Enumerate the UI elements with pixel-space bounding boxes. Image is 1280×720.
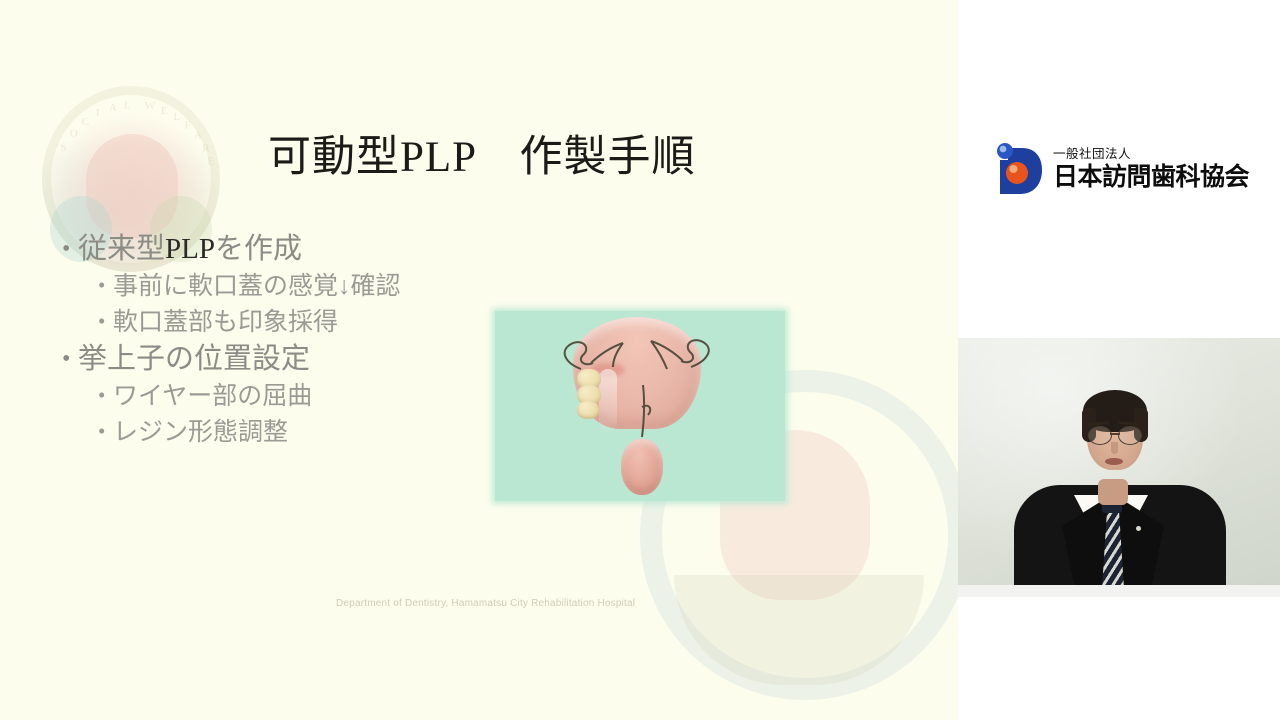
prosthesis-photo-content <box>495 311 785 501</box>
lapel-badge <box>1136 526 1141 531</box>
logo-name: 日本訪問歯科協会 <box>1053 165 1249 190</box>
presenter-neck <box>1098 479 1128 505</box>
bullet-item-1: •従来型PLPを作成 <box>62 230 492 268</box>
prosthesis-photo <box>495 311 785 501</box>
bullet-item-1-latin: PLP <box>165 233 215 265</box>
logo-panel: 一般社団法人 日本訪問歯科協会 <box>958 0 1280 338</box>
right-column: 一般社団法人 日本訪問歯科協会 <box>958 0 1280 720</box>
organization-logo: 一般社団法人 日本訪問歯科協会 <box>992 140 1249 198</box>
bullet-list: •従来型PLPを作成 •事前に軟口蓋の感覚↓確認 •軟口蓋部も印象採得 •挙上子… <box>62 230 492 450</box>
association-mark-icon <box>992 140 1044 198</box>
presenter-desk <box>958 585 1280 597</box>
lift-bulb <box>621 439 663 495</box>
bullet-item-4-text-a: 挙上子の位置設定 <box>78 343 310 375</box>
bullet-marker: • <box>98 378 113 412</box>
bullet-item-2-text: 事前に軟口蓋の感覚↓確認 <box>113 273 401 300</box>
bullet-item-3-text: 軟口蓋部も印象採得 <box>113 309 338 336</box>
right-column-filler <box>958 597 1280 720</box>
slide-area: S O C I A L W E L F A R E 可動型PLP 作製手順 •従… <box>0 0 958 720</box>
bullet-item-2: •事前に軟口蓋の感覚↓確認 <box>62 268 492 304</box>
logo-text-block: 一般社団法人 日本訪問歯科協会 <box>1053 148 1249 190</box>
bullet-item-6: •レジン形態調整 <box>62 414 492 450</box>
presenter-nose <box>1111 442 1118 454</box>
photo-caption: Department of Dentistry, Hamamatsu City … <box>336 598 635 609</box>
glasses-lens-left <box>1088 426 1112 445</box>
bullet-marker: • <box>62 230 78 268</box>
bullet-item-6-text: レジン形態調整 <box>113 419 288 446</box>
logo-kicker: 一般社団法人 <box>1053 148 1249 161</box>
glasses-lens-right <box>1118 426 1142 445</box>
bullet-item-4: •挙上子の位置設定 <box>62 340 492 378</box>
glasses-bridge <box>1110 433 1120 435</box>
presentation-screen: S O C I A L W E L F A R E 可動型PLP 作製手順 •従… <box>0 0 1280 720</box>
bullet-marker: • <box>98 268 113 302</box>
bullet-marker: • <box>62 340 78 378</box>
bullet-marker: • <box>98 414 113 448</box>
bullet-item-1-text-b: を作成 <box>215 233 302 265</box>
bullet-item-5: •ワイヤー部の屈曲 <box>62 378 492 414</box>
slide-title: 可動型PLP 作製手順 <box>268 134 696 181</box>
presenter-video <box>958 338 1280 597</box>
presenter-mouth <box>1105 458 1123 465</box>
bullet-item-5-text: ワイヤー部の屈曲 <box>113 383 312 410</box>
bullet-item-3: •軟口蓋部も印象採得 <box>62 304 492 340</box>
bullet-marker: • <box>98 304 113 338</box>
bullet-item-1-text-a: 従来型 <box>78 233 165 265</box>
